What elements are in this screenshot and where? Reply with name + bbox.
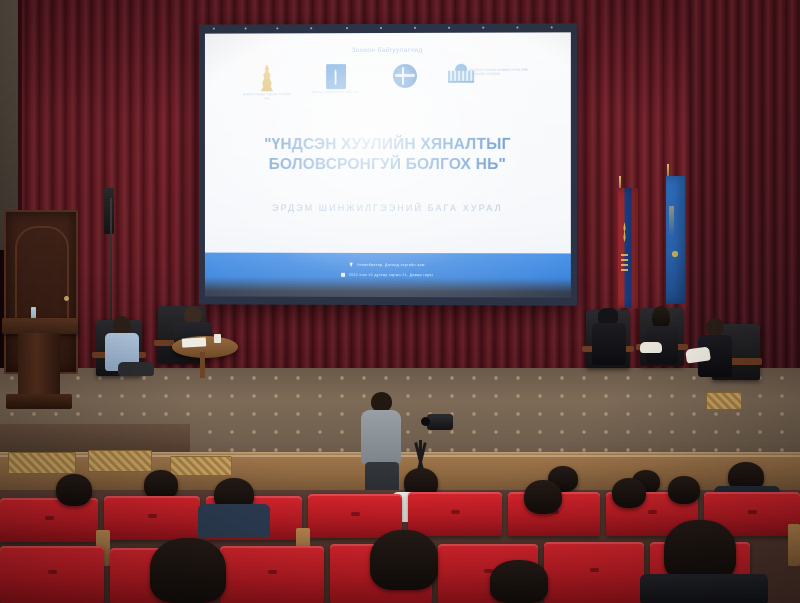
- audience-body: [198, 504, 270, 538]
- audience-head: [668, 476, 700, 504]
- audience-head-foreground: [490, 560, 548, 603]
- audience-head: [56, 474, 92, 506]
- institute-caption: ШИНЖЛЭХ УХААНЫ АКАДЕМИ ХУУЛЬ ЗҮЙН ҮНДЭСН…: [469, 69, 534, 77]
- table-papers: [182, 337, 206, 347]
- projection-screen: Зохион байгуулагчид МОНГОЛ УЛСЫН ҮНДСЭН …: [199, 23, 577, 305]
- audience-head-foreground: [150, 538, 226, 603]
- tower-glyph: [333, 69, 338, 85]
- video-camera-icon: [427, 414, 453, 430]
- stage-basket: [706, 392, 742, 410]
- table-leg: [200, 352, 205, 378]
- location-pin-icon: [349, 262, 352, 267]
- writing-tray: [88, 450, 152, 472]
- lectern-base: [6, 394, 72, 409]
- slide-title: "ҮНДСЭН ХУУЛИЙН ХЯНАЛТЫГ БОЛОВСРОНГУЙ БО…: [217, 135, 559, 175]
- ministry-caption: МОНГОЛ УЛСЫН ХУУЛЬ ЗҮЙН ЯАМ: [312, 91, 359, 95]
- floor-speaker: [104, 188, 114, 234]
- mongolian-national-flag: [618, 188, 638, 309]
- guest1-torso: [592, 323, 626, 365]
- door-panel: [15, 226, 69, 326]
- organizers-label: Зохион байгуулагчид: [205, 46, 571, 54]
- flag-crest-icon: [670, 248, 680, 260]
- audience-head: [612, 478, 646, 508]
- conference-hall-photo: Зохион байгуулагчид МОНГОЛ УЛСЫН ҮНДСЭН …: [0, 0, 800, 603]
- soyombo-lower-icon: [621, 254, 628, 272]
- writing-tray: [170, 456, 232, 476]
- audience-seat[interactable]: [220, 546, 324, 603]
- table-cup: [214, 334, 221, 343]
- slide-footer-bar: Улаанбаатар, Дотоод хэргийн яам 2022 оны…: [205, 253, 571, 298]
- calendar-icon: [341, 273, 345, 277]
- audience-seat[interactable]: [408, 492, 502, 536]
- audience-seat[interactable]: [544, 542, 644, 603]
- organizer-logo-row: МОНГОЛ УЛСЫН ҮНДСЭН ХУУЛИЙН ЦЭЦ МОНГОЛ У…: [205, 63, 571, 100]
- columns-glyph: [448, 71, 474, 83]
- audience-body-foreground: [640, 574, 768, 603]
- ministry-logo: МОНГОЛ УЛСЫН ХУУЛЬ ЗҮЙН ЯАМ: [310, 64, 362, 95]
- slide-footer-location-text: Улаанбаатар, Дотоод хэргийн яам: [357, 262, 425, 266]
- lectern-top: [2, 318, 78, 334]
- cameraman-torso: [361, 410, 401, 464]
- institution-blue-flag: [666, 176, 685, 304]
- audience-seat[interactable]: [104, 496, 200, 540]
- door-knob-icon[interactable]: [64, 296, 69, 301]
- audience-head-foreground: [370, 530, 438, 590]
- slide-subtitle: ЭРДЭМ ШИНЖИЛГЭЭНИЙ БАГА ХУРАЛ: [217, 203, 559, 213]
- seat-armrest: [788, 524, 800, 566]
- slide-footer-date: 2022 оны 10 дугаар сарын 21, Даваа гараг: [205, 272, 571, 277]
- state-emblem-logo: МОНГОЛ УЛСЫН ҮНДСЭН ХУУЛИЙН ЦЭЦ: [241, 64, 293, 100]
- globe-logo: [379, 64, 431, 90]
- gold-emblem-icon: [258, 64, 275, 91]
- panelist-lap: [118, 362, 154, 376]
- flag-crest-upper-icon: [669, 206, 674, 236]
- writing-tray: [8, 452, 76, 474]
- lectern-column: [18, 333, 60, 395]
- audience-seat[interactable]: [0, 546, 104, 603]
- building-dome-icon: [448, 64, 467, 82]
- institute-logo: ШИНЖЛЭХ УХААНЫ АКАДЕМИ ХУУЛЬ ЗҮЙН ҮНДЭСН…: [448, 64, 534, 82]
- slide-title-line1: "ҮНДСЭН ХУУЛИЙН ХЯНАЛТЫГ: [217, 135, 559, 155]
- slide-footer-date-text: 2022 оны 10 дугаар сарын 21, Даваа гараг: [349, 273, 434, 277]
- presentation-slide: Зохион байгуулагчид МОНГОЛ УЛСЫН ҮНДСЭН …: [205, 32, 571, 297]
- guest2-papers: [640, 342, 662, 353]
- audience-head-foreground: [664, 520, 736, 582]
- slide-footer-location: Улаанбаатар, Дотоод хэргийн яам: [205, 262, 571, 268]
- wooden-lectern: [2, 318, 78, 410]
- blue-circle-globe-icon: [392, 64, 416, 88]
- cameraman-head: [371, 392, 392, 412]
- slide-title-line2: БОЛОВСРОНГУЙ БОЛГОХ НЬ": [217, 155, 559, 175]
- blue-square-tower-icon: [326, 64, 346, 89]
- audience-head: [524, 480, 562, 514]
- state-emblem-caption: МОНГОЛ УЛСЫН ҮНДСЭН ХУУЛИЙН ЦЭЦ: [241, 93, 293, 101]
